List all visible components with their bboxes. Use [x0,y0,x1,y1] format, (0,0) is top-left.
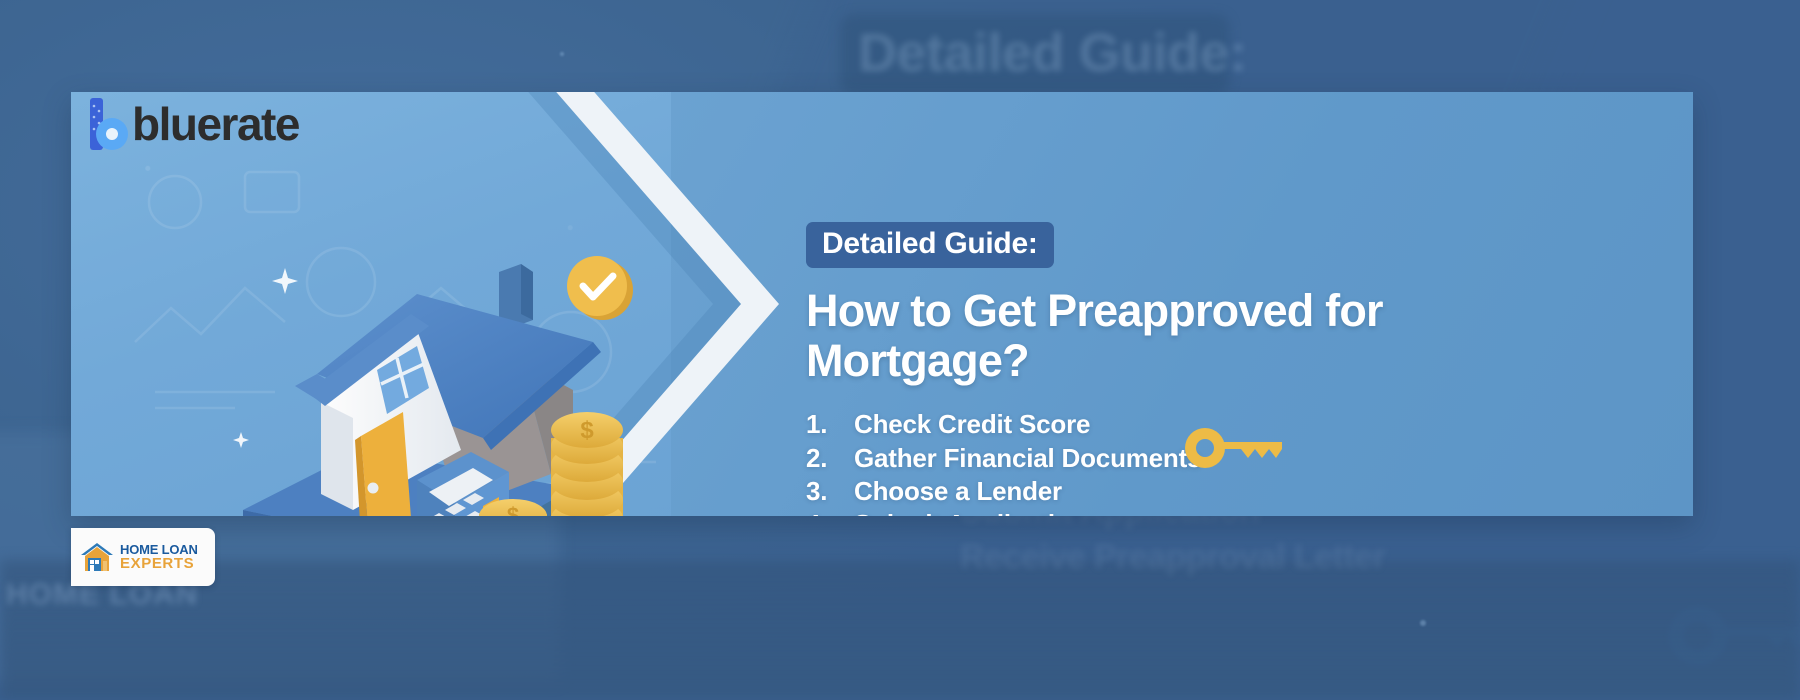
banner-page: Detailed Guide: How to Get Preapproved f… [0,0,1800,700]
bluerate-b-icon [88,98,130,150]
background-key-icon [1660,600,1800,672]
list-item: 3. Choose a Lender [806,475,1566,508]
step-label: Check Credit Score [854,408,1090,441]
svg-text:$: $ [580,417,594,444]
step-number: 2. [806,442,854,475]
step-label: Submit Application [854,508,1086,516]
partner-badge-text: HOME LOAN EXPERTS [120,543,198,571]
background-ghost-title: Detailed Guide: [858,22,1247,84]
svg-text:$: $ [507,503,519,516]
check-badge-icon [567,256,633,320]
sparkle-dot [560,52,564,56]
step-number: 4. [806,508,854,516]
house-icon [79,541,115,573]
step-number: 3. [806,475,854,508]
step-label: Choose a Lender [854,475,1062,508]
partner-line-2: EXPERTS [120,556,198,571]
key-icon [1184,427,1288,469]
banner-content: Detailed Guide: How to Get Preapproved f… [806,222,1566,516]
partner-badge[interactable]: HOME LOAN EXPERTS [71,528,215,586]
bluerate-logo[interactable]: bluerate [88,98,299,150]
step-number: 1. [806,408,854,441]
promo-banner: $ $ [71,92,1693,516]
logo-text: bluerate [132,101,299,147]
page-title: How to Get Preapproved for Mortgage? [806,286,1506,387]
house-with-coins-illustration: $ $ [221,242,651,516]
background-ghost-item-5: Receive Preapproval Letter [960,538,1385,577]
eyebrow-badge: Detailed Guide: [806,222,1054,268]
list-item: 4. Submit Application [806,508,1566,516]
step-label: Gather Financial Documents [854,442,1201,475]
background-lower-band [0,560,1800,700]
sparkle-dot [1420,620,1426,626]
